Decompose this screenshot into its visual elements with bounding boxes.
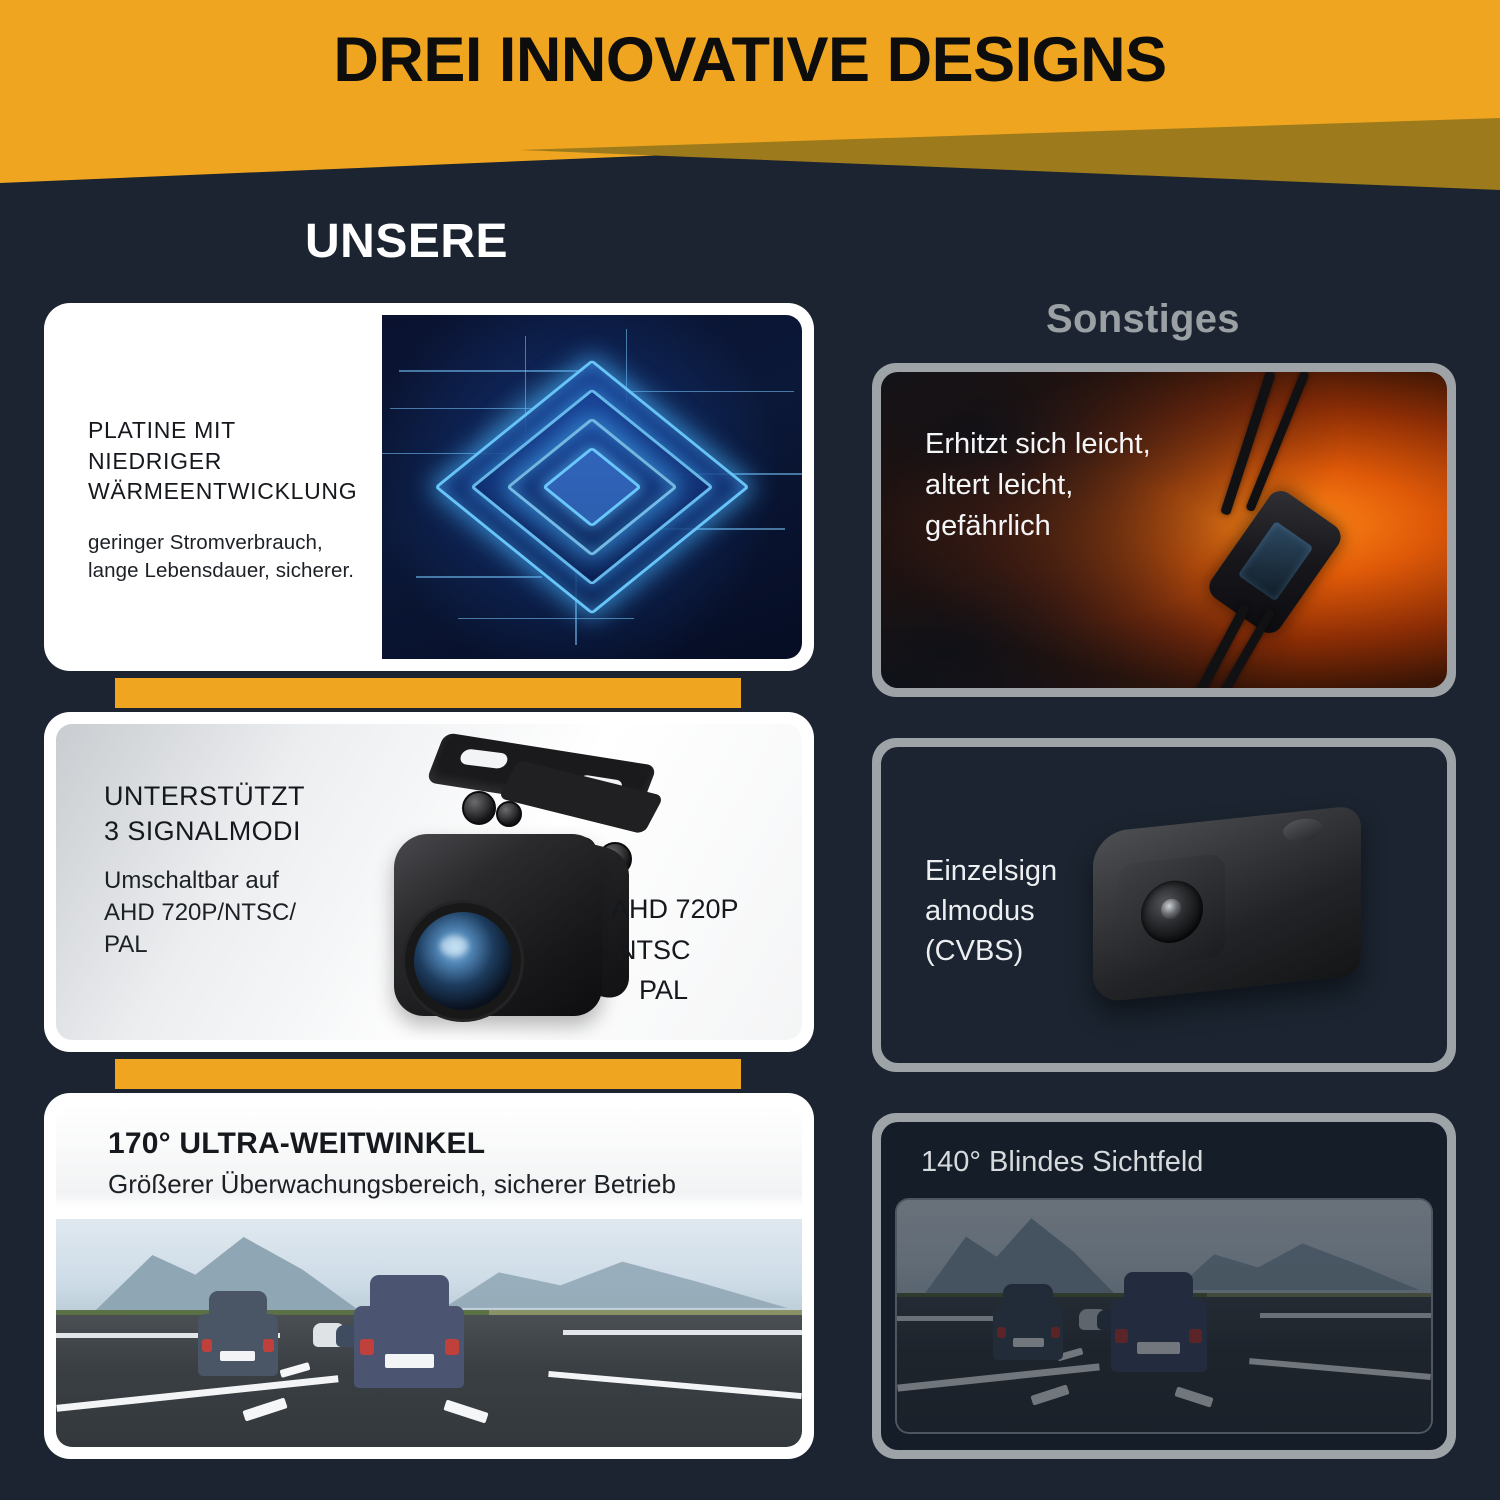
- card-overheating-cable-inner: Erhitzt sich leicht, altert leicht, gefä…: [881, 372, 1447, 688]
- card-three-signal-modes: UNTERSTÜTZT 3 SIGNALMODI Umschaltbar auf…: [44, 712, 814, 1052]
- card-blind-field-of-view: 140° Blindes Sichtfeld: [872, 1113, 1456, 1459]
- highway-narrow-view-photo: [897, 1200, 1431, 1432]
- signal-mode-item: NTSC: [611, 930, 739, 971]
- card-single-signal-mode-text: Einzelsign almodus (CVBS): [925, 851, 1057, 971]
- camera-hinge-screw: [462, 791, 496, 825]
- night-dim-overlay: [897, 1200, 1431, 1432]
- card-overheating-cable: Erhitzt sich leicht, altert leicht, gefä…: [872, 363, 1456, 697]
- page-header: DREI INNOVATIVE DESIGNS: [0, 0, 1500, 190]
- right-column-heading: Sonstiges: [1046, 297, 1240, 342]
- card-low-heat-pcb-text: PLATINE MIT NIEDRIGER WÄRMEENTWICKLUNG g…: [88, 415, 418, 586]
- card-ultra-wide-angle-subtitle: Größerer Überwachungsbereich, sicherer B…: [108, 1169, 676, 1200]
- left-column-heading: UNSERE: [305, 214, 508, 269]
- signal-modes-list: AHD 720P NTSC PAL: [611, 889, 739, 1011]
- card-three-signal-modes-inner: UNTERSTÜTZT 3 SIGNALMODI Umschaltbar auf…: [56, 724, 802, 1040]
- card-three-signal-modes-text: UNTERSTÜTZT 3 SIGNALMODI Umschaltbar auf…: [104, 779, 404, 961]
- card-three-signal-modes-title: UNTERSTÜTZT 3 SIGNALMODI: [104, 779, 404, 849]
- card-blind-field-of-view-title: 140° Blindes Sichtfeld: [921, 1146, 1203, 1179]
- card-overheating-cable-text: Erhitzt sich leicht, altert leicht, gefä…: [925, 424, 1151, 548]
- card-ultra-wide-angle: 170° ULTRA-WEITWINKEL Größerer Überwachu…: [44, 1093, 814, 1459]
- signal-mode-item: AHD 720P: [611, 889, 739, 930]
- card-single-signal-mode: Einzelsign almodus (CVBS): [872, 738, 1456, 1072]
- highway-wide-view-photo: [56, 1219, 802, 1447]
- cvbs-camera-knob: [1283, 817, 1323, 843]
- signal-mode-item: PAL: [611, 970, 739, 1011]
- card-low-heat-pcb-inner: PLATINE MIT NIEDRIGER WÄRMEENTWICKLUNG g…: [56, 315, 802, 659]
- page-title: DREI INNOVATIVE DESIGNS: [0, 24, 1500, 96]
- card-low-heat-pcb: PLATINE MIT NIEDRIGER WÄRMEENTWICKLUNG g…: [44, 303, 814, 671]
- card-divider-1: [115, 678, 741, 708]
- card-single-signal-mode-inner: Einzelsign almodus (CVBS): [881, 747, 1447, 1063]
- camera-hinge-screw: [496, 801, 522, 827]
- camera-lens: [414, 912, 512, 1010]
- card-blind-field-of-view-inner: 140° Blindes Sichtfeld: [881, 1122, 1447, 1450]
- card-ultra-wide-angle-inner: 170° ULTRA-WEITWINKEL Größerer Überwachu…: [56, 1105, 802, 1447]
- card-three-signal-modes-subtitle: Umschaltbar auf AHD 720P/NTSC/ PAL: [104, 865, 404, 961]
- card-divider-2: [115, 1059, 741, 1089]
- card-low-heat-pcb-title: PLATINE MIT NIEDRIGER WÄRMEENTWICKLUNG: [88, 415, 418, 507]
- card-ultra-wide-angle-title: 170° ULTRA-WEITWINKEL: [108, 1127, 485, 1161]
- camera-body: [394, 834, 602, 1016]
- cvbs-camera-photo: [1093, 805, 1361, 1003]
- glowing-blue-chip-photo: [382, 315, 802, 659]
- card-low-heat-pcb-subtitle: geringer Stromverbrauch, lange Lebensdau…: [88, 529, 418, 586]
